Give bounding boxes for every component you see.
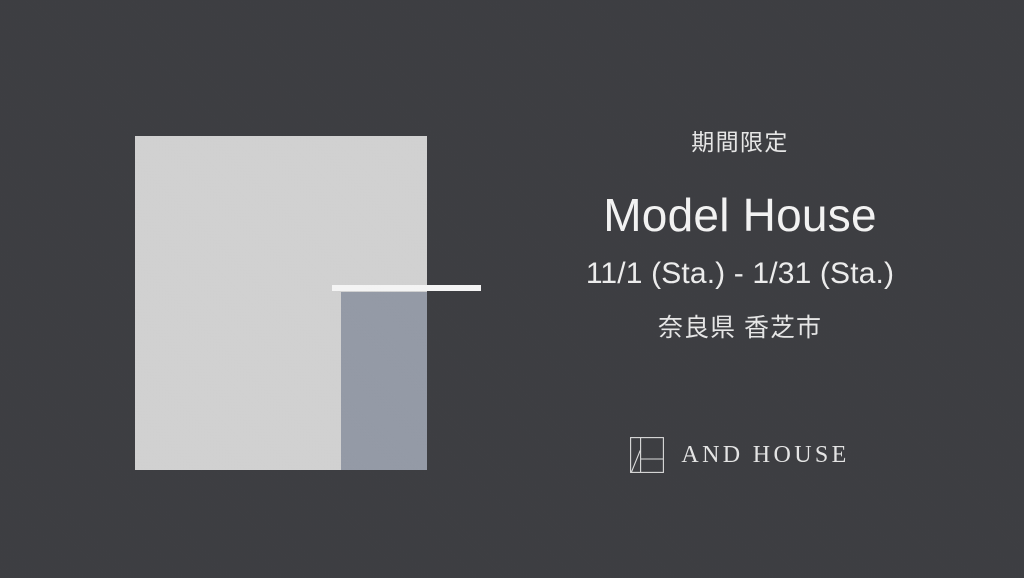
date-range-label: 11/1 (Sta.) - 1/31 (Sta.) xyxy=(540,257,940,292)
brand-name-label: AND HOUSE xyxy=(681,443,849,467)
brand-lockup: AND HOUSE xyxy=(540,437,940,473)
text-column: 期間限定 Model House 11/1 (Sta.) - 1/31 (Sta… xyxy=(540,0,940,578)
eyebrow-label: 期間限定 xyxy=(540,130,940,155)
mid-plate-shape xyxy=(341,292,427,470)
geometric-composition xyxy=(0,0,520,578)
page-title: Model House xyxy=(540,190,940,241)
poster-canvas: 期間限定 Model House 11/1 (Sta.) - 1/31 (Sta… xyxy=(0,0,1024,578)
and-house-square-mark-icon xyxy=(630,437,664,473)
location-label: 奈良県 香芝市 xyxy=(540,313,940,343)
accent-rule-shape xyxy=(332,285,481,291)
